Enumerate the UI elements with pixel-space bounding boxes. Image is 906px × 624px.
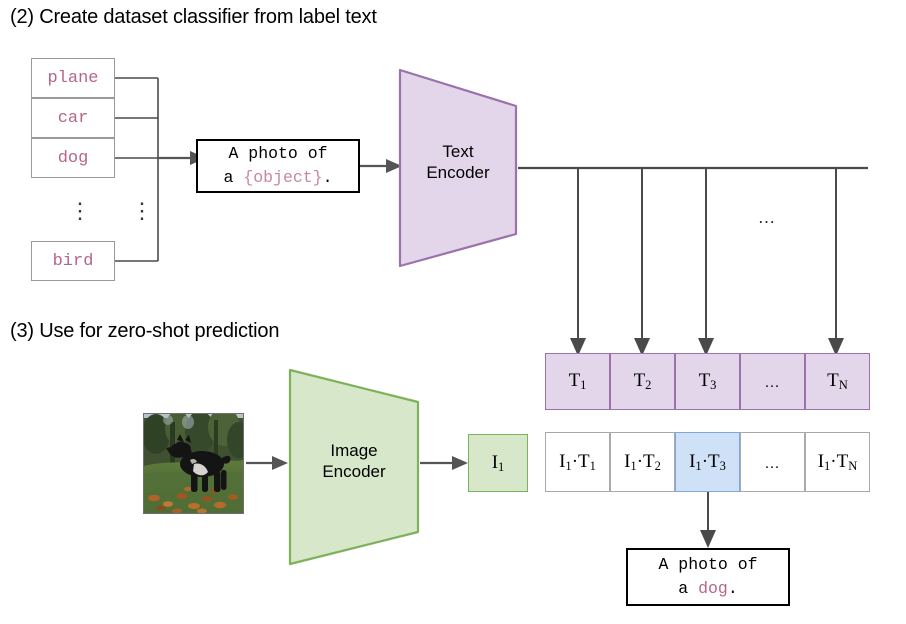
text-encoder-label: Text Encoder [396, 141, 520, 184]
similarity-label: I1·T1 [559, 451, 596, 474]
prediction-line-2-suffix: . [728, 579, 738, 598]
prompt-line-1: A photo of [228, 142, 327, 166]
class-label-text: bird [53, 252, 94, 271]
dog-photo-illustration [144, 414, 243, 513]
class-label-box-bird[interactable]: bird [31, 241, 115, 281]
similarity-label: I1·T3 [689, 451, 726, 474]
similarity-cell-3-selected[interactable]: I1·T3 [675, 432, 740, 492]
section-title-create-classifier: (2) Create dataset classifier from label… [10, 6, 377, 29]
clip-zero-shot-diagram: (2) Create dataset classifier from label… [0, 0, 906, 624]
image-encoder-label: Image Encoder [286, 440, 422, 483]
text-embedding-label: TN [827, 370, 848, 393]
text-embedding-cell-1[interactable]: T1 [545, 353, 610, 410]
similarity-cell-1[interactable]: I1·T1 [545, 432, 610, 492]
class-label-text: car [58, 109, 89, 128]
input-image-thumbnail[interactable] [143, 413, 244, 514]
similarity-cell-n[interactable]: I1·TN [805, 432, 870, 492]
label-merge-connector [110, 50, 206, 290]
section-title-zero-shot-prediction: (3) Use for zero-shot prediction [10, 320, 279, 343]
class-label-list-ellipsis: ⋮ [69, 200, 91, 222]
image-embedding-cell[interactable]: I1 [468, 434, 528, 492]
prompt-line-2-suffix: . [323, 168, 333, 187]
similarity-label: I1·T2 [624, 451, 661, 474]
prompt-template-box[interactable]: A photo of a {object}. [196, 139, 360, 193]
arrow-similarity-to-prediction [699, 492, 717, 548]
text-bus-ellipsis: … [758, 208, 777, 228]
text-encoder-output-bus [514, 160, 886, 360]
text-embedding-cell-3[interactable]: T3 [675, 353, 740, 410]
arrow-image-encoder-to-embedding [420, 456, 468, 470]
prediction-output-box[interactable]: A photo of a dog. [626, 548, 790, 606]
text-embedding-cell-2[interactable]: T2 [610, 353, 675, 410]
prompt-line-2-prefix: a [224, 168, 244, 187]
prediction-class-token: dog [698, 579, 728, 598]
text-embedding-label: T3 [699, 370, 717, 393]
text-embedding-label: T2 [634, 370, 652, 393]
image-embedding-label: I1 [492, 452, 505, 475]
text-embedding-label: T1 [569, 370, 587, 393]
class-label-text: dog [58, 149, 89, 168]
prediction-line-2-prefix: a [678, 579, 698, 598]
similarity-cell-2[interactable]: I1·T2 [610, 432, 675, 492]
similarity-cell-ellipsis: … [740, 432, 805, 492]
text-embedding-ellipsis: … [765, 375, 781, 392]
similarity-ellipsis: … [765, 456, 781, 473]
text-embedding-cell-n[interactable]: TN [805, 353, 870, 410]
class-label-box-car[interactable]: car [31, 98, 115, 138]
class-label-text: plane [47, 69, 98, 88]
class-label-box-dog[interactable]: dog [31, 138, 115, 178]
similarity-label: I1·TN [818, 451, 858, 474]
prediction-line-1: A photo of [658, 553, 757, 577]
prompt-object-token: {object} [243, 168, 322, 187]
class-label-box-plane[interactable]: plane [31, 58, 115, 98]
arrow-image-to-image-encoder [246, 456, 288, 470]
text-embedding-cell-ellipsis: … [740, 353, 805, 410]
prediction-line-2: a dog. [678, 577, 737, 601]
prompt-line-2: a {object}. [224, 166, 333, 190]
